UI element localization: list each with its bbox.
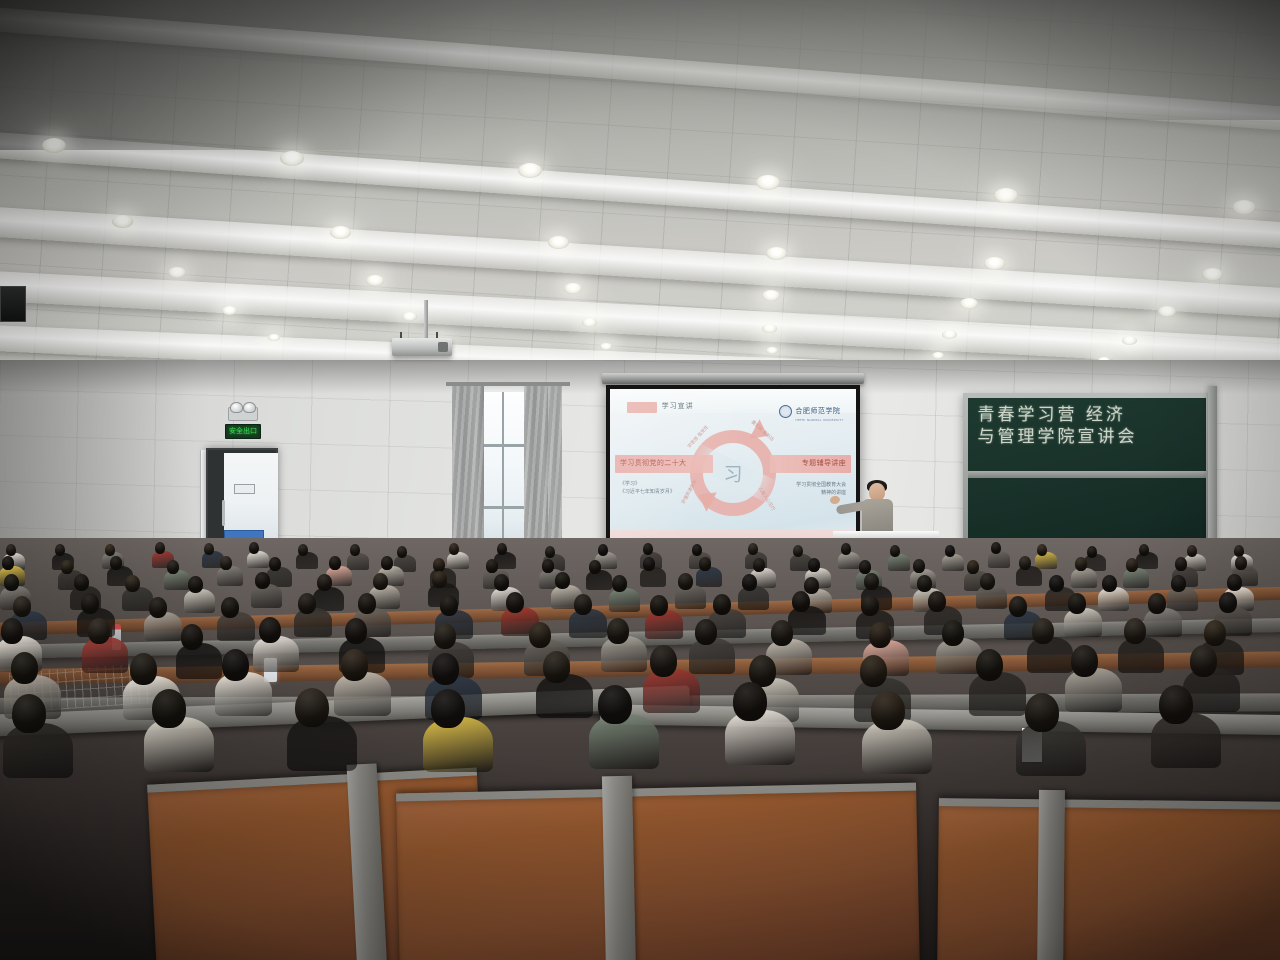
- audience-member-head: [434, 623, 456, 649]
- blackboard-line-1: 青春学习营 经济: [978, 405, 1126, 425]
- slide-right-subtext: 学习贯彻全国教育大会 精神的讲座: [796, 481, 846, 497]
- ceiling-downlight: [1202, 268, 1223, 281]
- audience-member-head: [869, 622, 891, 648]
- audience-member-head: [88, 618, 110, 644]
- audience-member-head: [358, 593, 376, 614]
- audience-member-head: [1219, 592, 1237, 613]
- audience-member-torso: [675, 585, 706, 609]
- audience-member-head: [149, 597, 167, 618]
- audience-member-head: [61, 560, 73, 574]
- audience-member-torso: [640, 567, 666, 587]
- audience-member-torso: [1144, 608, 1182, 637]
- ceiling-downlight: [330, 226, 351, 239]
- audience-member-head: [81, 593, 99, 614]
- audience-member-torso: [217, 612, 255, 641]
- audience-member-torso: [1123, 568, 1149, 588]
- audience-member-torso: [696, 567, 722, 587]
- audience-member-head: [1139, 544, 1149, 556]
- slide-center-char: 习: [723, 460, 742, 487]
- audience-member-head: [74, 574, 89, 591]
- audience-member-head: [742, 574, 757, 591]
- audience-member-head: [373, 573, 388, 590]
- door-room-sign: [234, 484, 255, 494]
- ceiling-downlight: [280, 151, 304, 166]
- audience-member-head: [204, 543, 214, 555]
- audience-member-head: [295, 688, 329, 727]
- blackboard-text: 青春学习营 经济 与管理学院宣讲会: [978, 405, 1197, 448]
- audience-member-head: [345, 618, 367, 644]
- audience-member-head: [1102, 575, 1117, 592]
- audience-member-head: [1071, 645, 1098, 677]
- presentation-slide: 学习宣讲 合肥师范学院 HEFEI NORMAL UNIVERSITY 习 学思…: [610, 389, 856, 551]
- projection-screen: 学习宣讲 合肥师范学院 HEFEI NORMAL UNIVERSITY 习 学思…: [606, 385, 860, 555]
- audience-member-head: [792, 591, 810, 612]
- audience-member-head: [432, 653, 459, 685]
- projector-icon: [392, 338, 452, 356]
- ceiling-shadow: [896, 0, 1280, 120]
- audience-member-head: [494, 574, 509, 591]
- audience-member-head: [298, 593, 316, 614]
- audience-member-head: [913, 559, 925, 573]
- audience-member-head: [152, 689, 186, 728]
- audience-member-head: [1187, 545, 1197, 557]
- audience-member-head: [1025, 693, 1059, 732]
- audience-member-head: [1175, 557, 1187, 571]
- audience-member-head: [255, 572, 270, 589]
- ceiling-downlight: [222, 306, 237, 315]
- audience-member-head: [1009, 596, 1027, 617]
- audience-member-head: [317, 574, 332, 591]
- audience-member-head: [574, 594, 592, 615]
- audience-member-head: [864, 573, 879, 590]
- audience-member-head: [695, 619, 717, 645]
- audience-member-head: [440, 595, 458, 616]
- audience-member-torso: [589, 714, 659, 769]
- blackboard-surface: 青春学习营 经济 与管理学院宣讲会: [968, 398, 1206, 546]
- audience-member-head: [350, 544, 360, 556]
- slide-tag-block: [627, 402, 657, 413]
- audience-member-head: [298, 544, 308, 556]
- audience-member-head: [771, 620, 793, 646]
- audience-member-torso: [184, 589, 215, 613]
- podium-top-surface: [833, 531, 939, 538]
- audience-member-head: [167, 560, 179, 574]
- audience-member-head: [1227, 574, 1242, 591]
- ceiling-downlight: [762, 324, 777, 333]
- audience-member-head: [967, 560, 979, 574]
- audience-member-head: [1068, 593, 1086, 614]
- audience-member-torso: [788, 606, 826, 635]
- slide-right-bar-label: 专题辅导讲座: [802, 458, 846, 468]
- audience-member-head: [942, 620, 964, 646]
- audience-member-head: [431, 689, 465, 728]
- audience-member-torso: [347, 553, 369, 570]
- audience-member-head: [381, 556, 393, 570]
- seat-post: [1037, 790, 1065, 960]
- audience-member-head: [125, 575, 140, 592]
- ceiling-downlight: [564, 283, 582, 294]
- slide-left-subtext-line: 《学习》: [620, 481, 675, 489]
- lecture-hall-photo: 安全出口 学习宣讲 合肥师范学院 HEFEI NORMAL UNIVER: [0, 0, 1280, 960]
- exit-sign-label: 安全出口: [229, 428, 257, 435]
- blackboard-line-2: 与管理学院宣讲会: [978, 427, 1197, 448]
- ceiling-downlight: [994, 188, 1018, 203]
- blackboard: 青春学习营 经济 与管理学院宣讲会: [963, 393, 1211, 551]
- slide-left-subtext: 《学习》 《习近平七年知青岁月》: [620, 481, 675, 497]
- audience-member-head: [259, 617, 281, 643]
- audience-member-head: [699, 557, 711, 571]
- audience-member-torso: [3, 723, 73, 778]
- slide-logo-name: 合肥师范学院: [795, 407, 840, 415]
- audience-member-torso: [176, 643, 222, 679]
- audience-member-head: [607, 618, 629, 644]
- blackboard-side-rail: [1208, 386, 1217, 558]
- audience-member-head: [506, 592, 524, 613]
- audience-member-head: [11, 652, 38, 684]
- audience-member-head: [181, 624, 203, 650]
- audience-member-head: [555, 572, 570, 589]
- audience-member-torso: [1065, 668, 1122, 712]
- audience-member-head: [1075, 557, 1087, 571]
- ceiling-downlight: [1232, 200, 1256, 215]
- audience-member-head: [1171, 575, 1186, 592]
- university-seal-icon: [779, 405, 792, 418]
- audience-member-head: [110, 556, 122, 570]
- audience-member-head: [188, 576, 203, 593]
- audience-member-head: [221, 597, 239, 618]
- audience-member-head: [105, 544, 115, 556]
- audience-member-head: [130, 653, 157, 685]
- audience-member-head: [13, 596, 31, 617]
- blackboard-divider: [968, 471, 1206, 478]
- audience-member-head: [249, 542, 259, 554]
- seat-post: [602, 776, 636, 960]
- audience-member-head: [991, 542, 1001, 554]
- audience-member-head: [222, 649, 249, 681]
- ceiling-downlight: [268, 334, 280, 341]
- ceiling-downlight: [600, 343, 612, 350]
- audience-member-head: [713, 594, 731, 615]
- audience-member-head: [543, 651, 570, 683]
- audience-member-torso: [1027, 637, 1073, 673]
- audience-member-torso: [1016, 566, 1042, 586]
- audience-member-head: [2, 556, 14, 570]
- ceiling-downlight: [582, 318, 597, 327]
- audience-member-head: [1126, 558, 1138, 572]
- audience-member-torso: [609, 588, 640, 612]
- audience-member-head: [643, 557, 655, 571]
- audience-member-head: [220, 556, 232, 570]
- audience-member-head: [497, 543, 507, 555]
- audience-member-head: [1049, 575, 1064, 592]
- audience-member-head: [860, 655, 887, 687]
- audience-member-head: [612, 575, 627, 592]
- audience-member-head: [804, 577, 819, 594]
- exit-sign: 安全出口: [225, 424, 261, 439]
- audience-member-head: [1204, 620, 1226, 646]
- projector-lens: [438, 342, 448, 352]
- audience-member-head: [4, 574, 19, 591]
- slide-left-bar-label: 学习贯彻党的二十大: [620, 458, 687, 468]
- audience-member-head: [12, 694, 46, 733]
- audience-member-torso: [586, 570, 612, 590]
- audience-member-head: [1019, 556, 1031, 570]
- audience-member-torso: [164, 570, 190, 590]
- audience-member-head: [1235, 556, 1247, 570]
- audience-member-head: [733, 682, 767, 721]
- slide-left-subtext-line: 《习近平七年知青岁月》: [620, 489, 675, 497]
- audience-member-torso: [942, 554, 964, 571]
- audience-member-head: [449, 543, 459, 555]
- audience-member-torso: [447, 552, 469, 569]
- slide-tag-label: 学习宣讲: [662, 401, 694, 411]
- slide-logo-sub: HEFEI NORMAL UNIVERSITY: [795, 418, 843, 422]
- audience-member-head: [1087, 546, 1097, 558]
- audience-member-torso: [217, 566, 243, 586]
- ceiling-shadow: [0, 0, 589, 150]
- audience-member-head: [545, 546, 555, 558]
- audience-seating-area: [0, 538, 1280, 960]
- screen-roller-housing: [602, 373, 864, 384]
- ceiling-downlight: [518, 163, 542, 178]
- audience-member-head: [341, 649, 368, 681]
- emergency-light: [228, 407, 258, 421]
- audience-member-torso: [1064, 608, 1102, 637]
- wall-speaker-box: [0, 286, 26, 322]
- audience-member-head: [678, 573, 693, 590]
- foreground-seat-back[interactable]: [396, 783, 920, 960]
- audience-member-head: [1159, 685, 1193, 724]
- audience-member-head: [433, 558, 445, 572]
- audience-member-head: [1032, 618, 1054, 644]
- audience-member-head: [6, 544, 16, 556]
- audience-member-head: [650, 595, 668, 616]
- audience-member-head: [859, 560, 871, 574]
- audience-member-torso: [294, 608, 332, 637]
- audience-member-head: [1037, 544, 1047, 556]
- audience-member-head: [598, 544, 608, 556]
- door-handle[interactable]: [222, 500, 225, 526]
- audience-member-head: [643, 543, 653, 555]
- audience-member-head: [976, 649, 1003, 681]
- audience-member-head: [542, 559, 554, 573]
- foreground-seat-back[interactable]: [937, 798, 1280, 960]
- audience-member-head: [980, 573, 995, 590]
- audience-member-head: [793, 545, 803, 557]
- ceiling-downlight: [942, 330, 957, 339]
- audience-member-head: [486, 559, 498, 573]
- ceiling-downlight: [402, 312, 417, 321]
- audience-member-head: [871, 691, 905, 730]
- audience-member-torso: [1071, 568, 1097, 588]
- audience-member-head: [1124, 618, 1146, 644]
- audience-member-head: [928, 591, 946, 612]
- audience-member-head: [1148, 593, 1166, 614]
- audience-member-head: [692, 544, 702, 556]
- audience-member-head: [589, 560, 601, 574]
- audience-member-head: [890, 545, 900, 557]
- audience-member-head: [1, 618, 23, 644]
- audience-member-head: [329, 556, 341, 570]
- audience-member-head: [529, 622, 551, 648]
- slide-right-subtext-line: 学习贯彻全国教育大会: [796, 481, 846, 489]
- ceiling-downlight: [366, 275, 384, 286]
- audience-member-torso: [247, 551, 269, 568]
- audience-member-torso: [988, 551, 1010, 568]
- audience-member-head: [1190, 645, 1217, 677]
- audience-member-head: [861, 595, 879, 616]
- audience-member-head: [841, 543, 851, 555]
- audience-member-head: [650, 645, 677, 677]
- audience-member-head: [753, 558, 765, 572]
- audience-member-head: [598, 685, 632, 724]
- audience-member-torso: [643, 669, 700, 713]
- ceiling: [0, 0, 1280, 400]
- audience-member-torso: [888, 554, 910, 571]
- audience-member-head: [432, 571, 447, 588]
- ceiling-downlight: [168, 267, 186, 278]
- audience-member-head: [55, 544, 65, 556]
- audience-member-head: [269, 557, 281, 571]
- audience-member-head: [155, 542, 165, 554]
- audience-member-head: [945, 545, 955, 557]
- audience-member-head: [748, 543, 758, 555]
- audience-member-torso: [838, 552, 860, 569]
- slide-university-logo: 合肥师范学院 HEFEI NORMAL UNIVERSITY: [779, 400, 843, 422]
- ceiling-downlight: [766, 247, 787, 260]
- audience-member-head: [808, 558, 820, 572]
- audience-member-head: [397, 546, 407, 558]
- audience-member-head: [917, 575, 932, 592]
